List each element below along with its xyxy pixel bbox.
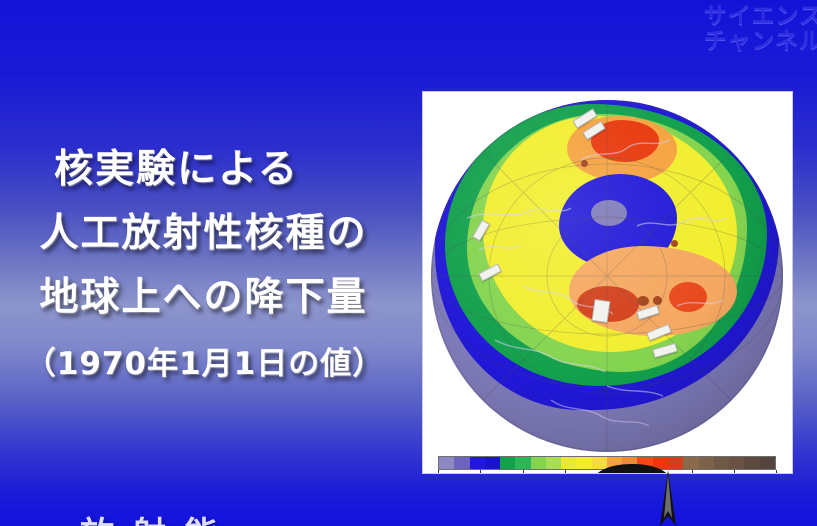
watermark-line-2: チャンネル xyxy=(704,29,817,54)
bottom-caption: 放射能 xyxy=(80,507,380,526)
figure-panel: 0200040006000800010000120001400016000 Bq… xyxy=(423,92,792,473)
colorbar-tick xyxy=(692,470,693,473)
colorbar-swatch-5 xyxy=(515,457,530,469)
colorbar-swatch-16 xyxy=(683,457,698,469)
colorbar-tick xyxy=(776,470,777,473)
colorbar-tick xyxy=(438,470,439,473)
channel-watermark: サイエンス チャンネル xyxy=(704,4,817,54)
colorbar-swatch-21 xyxy=(760,457,775,469)
colorbar-swatch-7 xyxy=(546,457,561,469)
colorbar-swatch-4 xyxy=(500,457,515,469)
globe-map xyxy=(431,100,783,452)
title-line-1: 核実験による xyxy=(0,150,415,189)
colorbar-swatch-19 xyxy=(729,457,744,469)
title-subtitle: （1970年1月1日の値） xyxy=(0,338,415,383)
pointer-cursor-icon xyxy=(655,470,681,526)
colorbar-swatch-2 xyxy=(470,457,485,469)
colorbar-tick xyxy=(523,470,524,473)
colorbar-swatch-15 xyxy=(668,457,683,469)
colorbar-swatch-1 xyxy=(454,457,469,469)
colorbar-swatch-20 xyxy=(744,457,759,469)
watermark-line-1: サイエンス xyxy=(704,4,817,29)
globe-sphere xyxy=(431,100,783,452)
colorbar-tick xyxy=(734,470,735,473)
colorbar-swatch-10 xyxy=(592,457,607,469)
colorbar-swatch-18 xyxy=(714,457,729,469)
colorbar-swatch-9 xyxy=(576,457,591,469)
colorbar-swatch-17 xyxy=(699,457,714,469)
colorbar-tick xyxy=(565,470,566,473)
title-line-3: 地球上への降下量 xyxy=(0,278,415,317)
title-block: 核実験による 人工放射性核種の 地球上への降下量 （1970年1月1日の値） xyxy=(0,150,415,383)
video-frame: サイエンス チャンネル 核実験による 人工放射性核種の 地球上への降下量 （19… xyxy=(0,0,817,526)
colorbar-swatch-0 xyxy=(439,457,454,469)
colorbar-swatch-8 xyxy=(561,457,576,469)
colorbar-swatch-3 xyxy=(485,457,500,469)
map-station-label xyxy=(592,299,611,323)
colorbar-tick xyxy=(480,470,481,473)
colorbar-swatch-6 xyxy=(531,457,546,469)
title-line-2: 人工放射性核種の xyxy=(0,214,415,253)
